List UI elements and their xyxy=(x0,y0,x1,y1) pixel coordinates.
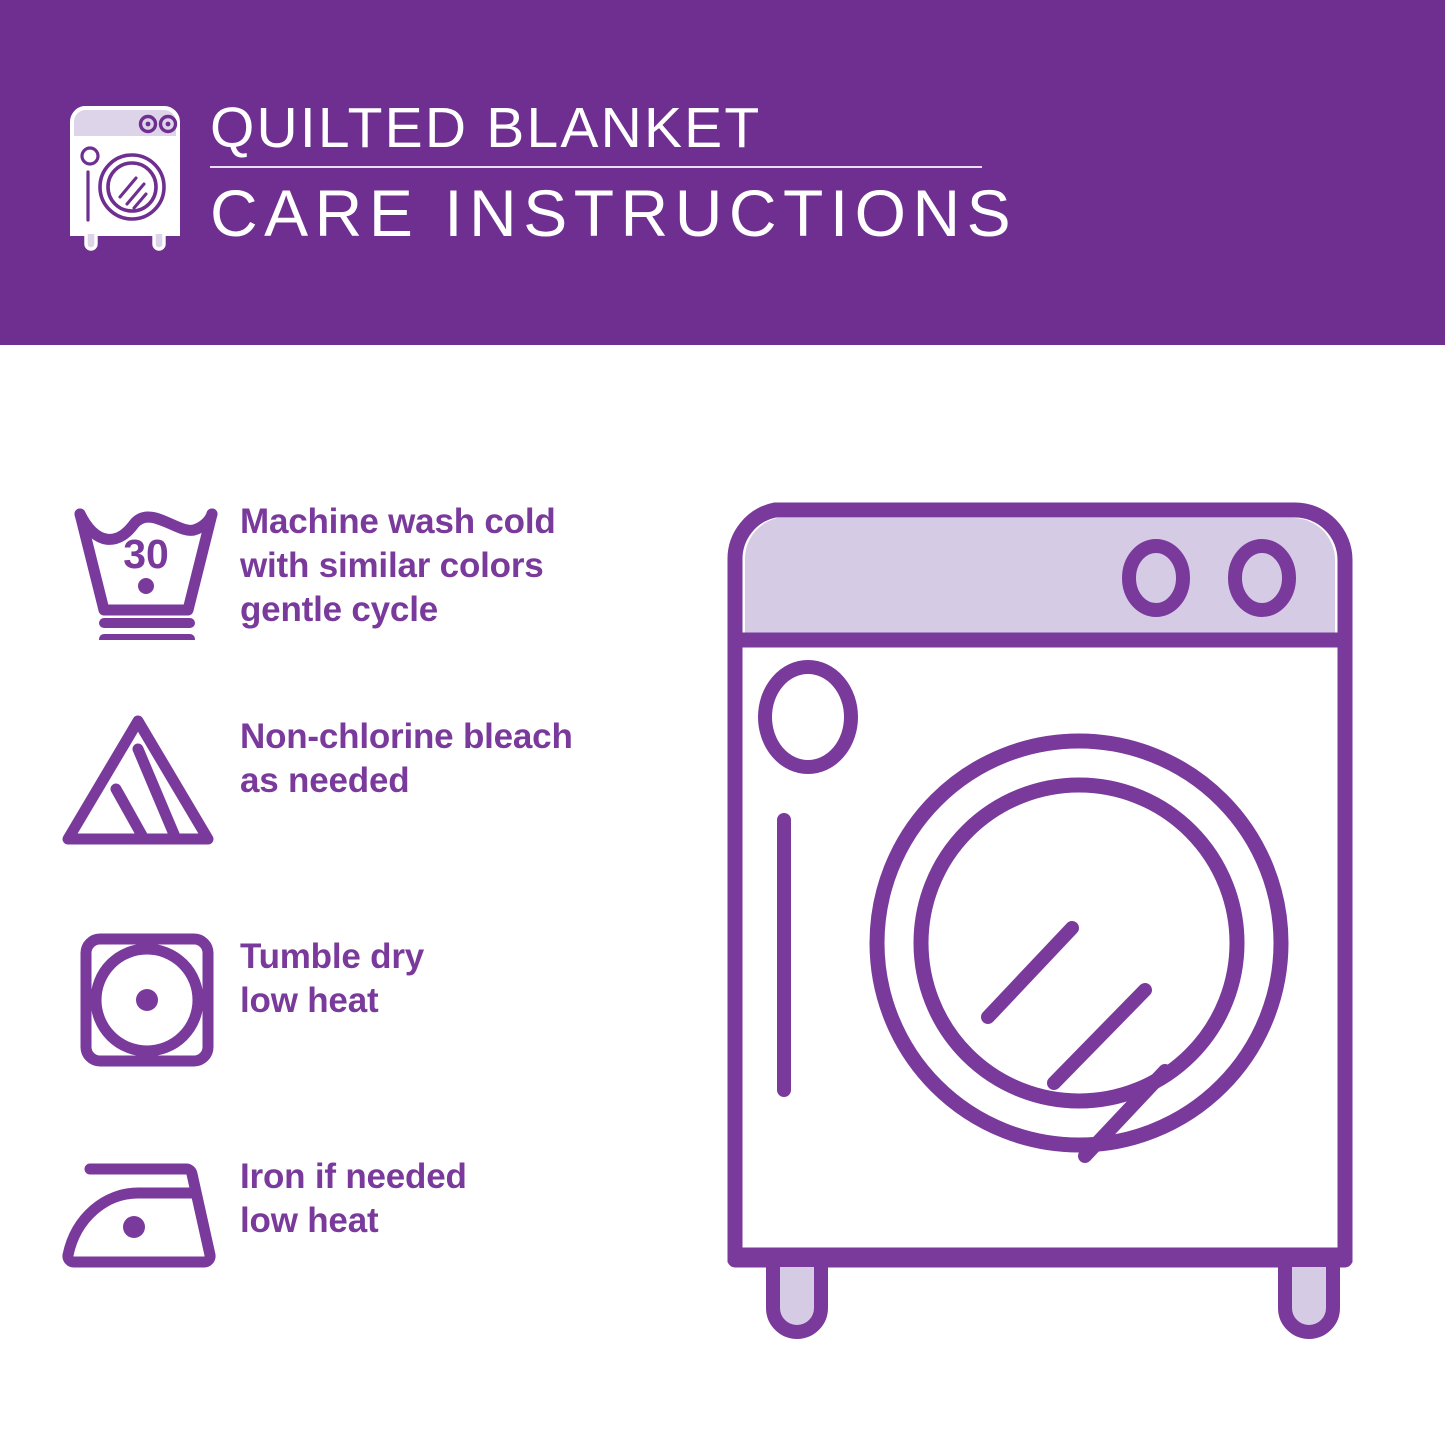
care-row-bleach: Non-chlorine bleach as needed xyxy=(60,705,680,855)
iron-low-heat-icon xyxy=(60,1145,220,1295)
care-label-bleach: Non-chlorine bleach as needed xyxy=(240,705,573,803)
care-label-tumble-dry: Tumble dry low heat xyxy=(240,925,424,1023)
care-row-wash: 30 Machine wash cold with similar colors… xyxy=(60,490,680,640)
title-divider xyxy=(210,166,982,168)
care-instructions-page: QUILTED BLANKET CARE INSTRUCTIONS 30 xyxy=(0,0,1445,1445)
care-label-iron: Iron if needed low heat xyxy=(240,1145,467,1243)
care-label-line: as needed xyxy=(240,759,573,803)
care-label-line: Machine wash cold xyxy=(240,500,556,544)
page-title-line2: CARE INSTRUCTIONS xyxy=(210,174,1010,252)
header-title-block: QUILTED BLANKET CARE INSTRUCTIONS xyxy=(210,96,1010,252)
page-title-line1: QUILTED BLANKET xyxy=(210,96,1010,160)
care-row-iron: Iron if needed low heat xyxy=(60,1145,680,1295)
wash-temperature-value: 30 xyxy=(123,531,169,577)
care-label-line: Non-chlorine bleach xyxy=(240,715,573,759)
care-label-wash: Machine wash cold with similar colors ge… xyxy=(240,490,556,632)
care-label-line: Tumble dry xyxy=(240,935,424,979)
care-label-line: Iron if needed xyxy=(240,1155,467,1199)
header-banner: QUILTED BLANKET CARE INSTRUCTIONS xyxy=(0,0,1445,345)
care-label-line: gentle cycle xyxy=(240,588,556,632)
care-row-tumble-dry: Tumble dry low heat xyxy=(60,925,680,1075)
tumble-dry-low-icon xyxy=(60,925,220,1075)
wash-tub-30-gentle-icon: 30 xyxy=(60,490,220,640)
non-chlorine-bleach-triangle-icon xyxy=(60,705,220,855)
care-label-line: low heat xyxy=(240,979,424,1023)
washing-machine-icon xyxy=(64,104,186,252)
care-label-line: low heat xyxy=(240,1199,467,1243)
washing-machine-illustration xyxy=(715,470,1415,1380)
care-instruction-list: 30 Machine wash cold with similar colors… xyxy=(0,345,700,1445)
care-label-line: with similar colors xyxy=(240,544,556,588)
